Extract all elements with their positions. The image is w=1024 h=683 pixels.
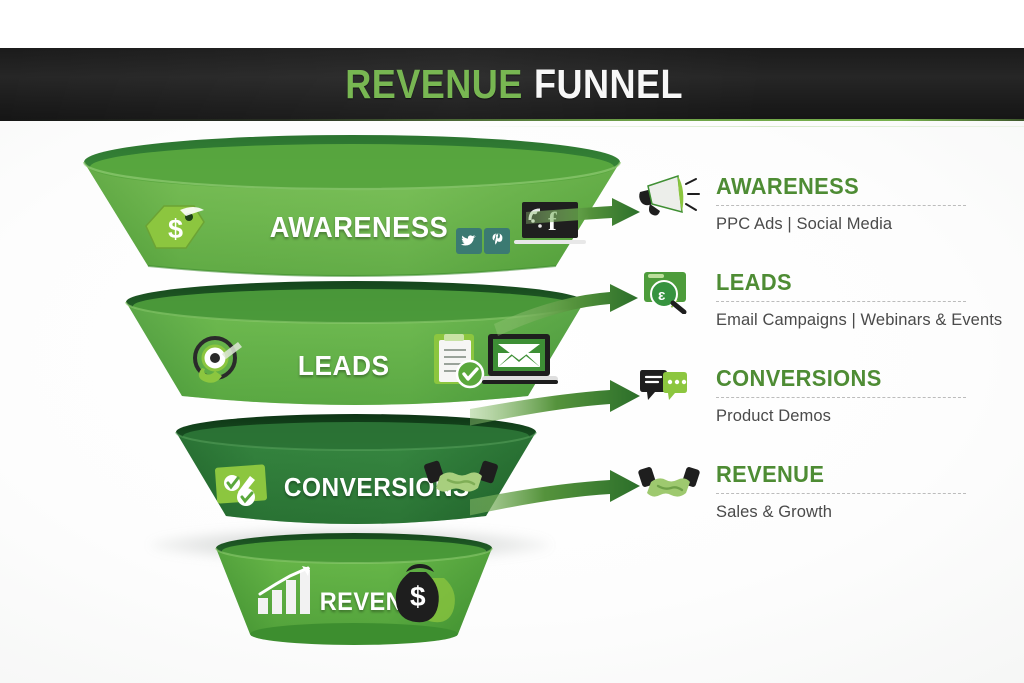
megaphone-icon [638, 174, 700, 218]
svg-text:ɛ: ɛ [658, 287, 666, 304]
step-divider [716, 301, 966, 302]
pinterest-icon [484, 228, 510, 254]
funnel-stage-leads[interactable]: LEADS [120, 280, 590, 425]
step-conversions[interactable]: CONVERSIONS Product Demos [632, 362, 1024, 458]
title-word-revenue: REVENUE [345, 61, 523, 108]
background-top-strip [0, 0, 1024, 48]
handshake-icon [638, 462, 700, 506]
funnel-stage-label-leads: LEADS [298, 350, 390, 382]
page-title: REVENUE FUNNEL [0, 48, 1024, 121]
funnel-infographic-page: REVENUE FUNNEL [0, 0, 1024, 683]
step-divider [716, 397, 966, 398]
step-subtitle-leads: Email Campaigns | Webinars & Events [716, 311, 1002, 330]
steps-list: AWARENESS PPC Ads | Social Media ɛ LEADS… [632, 160, 1024, 600]
step-title-awareness: AWARENESS [716, 173, 859, 200]
step-subtitle-conversions: Product Demos [716, 407, 831, 426]
handshake-icon [424, 454, 498, 504]
funnel-graphic: AWARENESS $ f [70, 130, 640, 610]
step-divider [716, 205, 966, 206]
step-title-conversions: CONVERSIONS [716, 365, 882, 392]
funnel-stage-awareness[interactable]: AWARENESS $ f [78, 134, 626, 299]
step-subtitle-awareness: PPC Ads | Social Media [716, 215, 892, 234]
step-divider [716, 493, 966, 494]
chat-bubbles-icon [638, 366, 700, 410]
banner-accent-line [0, 119, 1024, 121]
magnifier-lead-icon: ɛ [638, 270, 700, 314]
step-subtitle-revenue: Sales & Growth [716, 503, 832, 522]
growth-bar-chart-icon [252, 564, 316, 622]
funnel-stage-revenue[interactable]: REVENUE $ [210, 530, 498, 660]
checkmark-card-icon [210, 452, 282, 518]
money-bag-icon: $ [388, 558, 458, 624]
twitter-icon [456, 228, 482, 254]
svg-text:$: $ [410, 581, 426, 612]
svg-text:f: f [548, 207, 557, 236]
funnel-stage-conversions[interactable]: CONVERSIONS [170, 412, 542, 542]
step-title-revenue: REVENUE [716, 461, 824, 488]
banner-accent-line-secondary [0, 126, 1024, 127]
step-awareness[interactable]: AWARENESS PPC Ads | Social Media [632, 170, 1024, 266]
title-word-funnel: FUNNEL [534, 61, 683, 108]
funnel-stage-label-awareness: AWARENESS [270, 212, 448, 245]
step-leads[interactable]: ɛ LEADS Email Campaigns | Webinars & Eve… [632, 266, 1024, 362]
step-revenue[interactable]: REVENUE Sales & Growth [632, 458, 1024, 554]
svg-text:$: $ [168, 214, 183, 244]
email-laptop-icon [480, 330, 560, 392]
title-banner: REVENUE FUNNEL [0, 48, 1024, 121]
target-magnet-icon [184, 332, 256, 394]
price-tag-dollar-icon: $ [140, 196, 212, 262]
step-title-leads: LEADS [716, 269, 792, 296]
